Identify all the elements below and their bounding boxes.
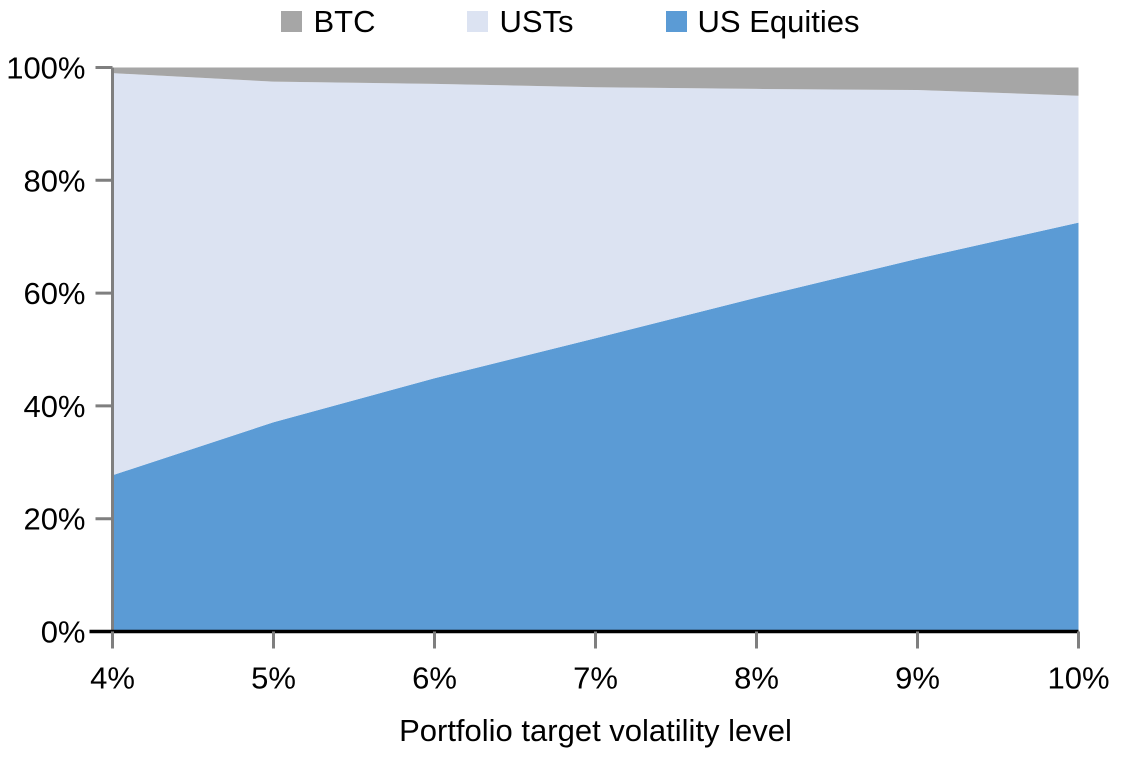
x-axis-tick-labels: 4%5%6%7%8%9%10% (90, 661, 1109, 696)
y-tick-label: 100% (6, 51, 85, 86)
y-tick-label: 40% (23, 389, 85, 424)
y-axis-tick-labels: 0%20%40%60%80%100% (6, 51, 85, 650)
area-series-group (113, 68, 1079, 632)
y-tick-label: 20% (23, 502, 85, 537)
x-tick-label: 8% (734, 661, 779, 696)
chart-container: BTC USTs US Equities 0%20%40%60%80%100% … (0, 0, 1141, 763)
x-tick-label: 5% (251, 661, 296, 696)
stacked-area-plot: 0%20%40%60%80%100% 4%5%6%7%8%9%10% Portf… (0, 0, 1141, 763)
x-tick-label: 4% (90, 661, 135, 696)
x-tick-label: 7% (573, 661, 618, 696)
x-tick-label: 6% (412, 661, 457, 696)
y-tick-label: 80% (23, 163, 85, 198)
y-tick-label: 0% (41, 615, 86, 650)
x-tick-label: 10% (1047, 661, 1109, 696)
y-tick-label: 60% (23, 276, 85, 311)
x-tick-label: 9% (895, 661, 940, 696)
x-axis-title: Portfolio target volatility level (399, 713, 792, 748)
